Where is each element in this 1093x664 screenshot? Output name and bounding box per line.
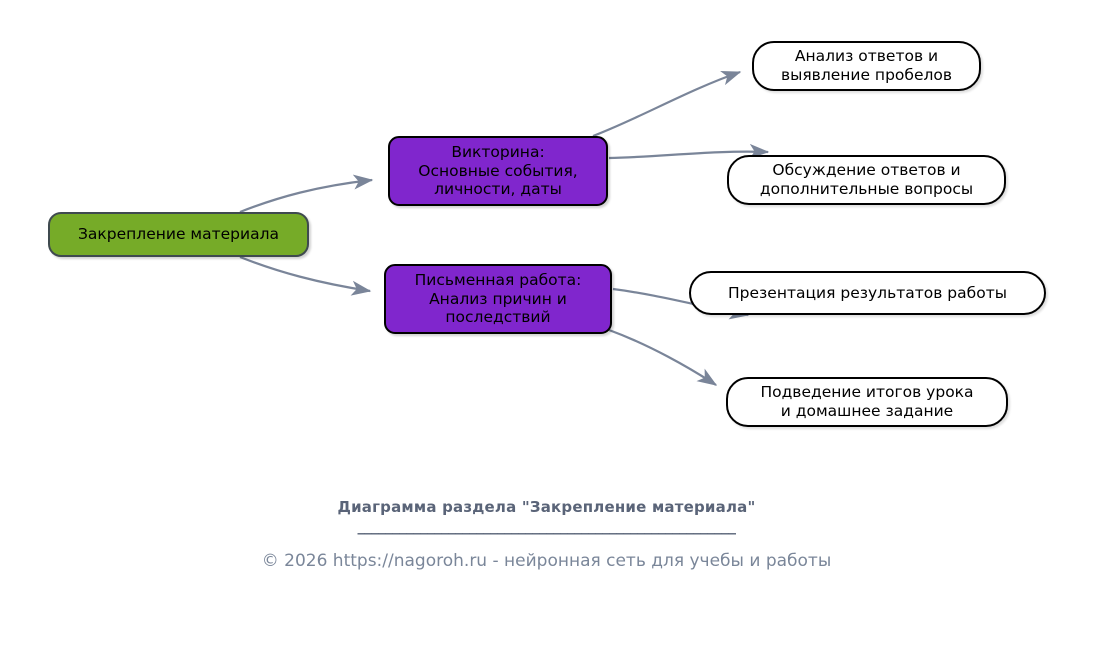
node-leaf-presentation[interactable]: Презентация результатов работы: [689, 271, 1046, 315]
edge-branch1-to-leaf1: [593, 72, 740, 136]
node-branch-written-work[interactable]: Письменная работа: Анализ причин и после…: [384, 264, 612, 334]
edge-root-to-branch2: [240, 257, 370, 291]
edge-branch2-to-leaf4: [609, 330, 716, 385]
diagram-caption: Диаграмма раздела "Закрепление материала…: [0, 498, 1093, 516]
footer-copyright: © 2026 https://nagoroh.ru - нейронная се…: [0, 551, 1093, 571]
node-leaf-answer-analysis[interactable]: Анализ ответов и выявление пробелов: [752, 41, 981, 91]
node-leaf-answer-discussion[interactable]: Обсуждение ответов и дополнительные вопр…: [727, 155, 1006, 205]
node-root[interactable]: Закрепление материала: [48, 212, 309, 257]
node-branch-quiz[interactable]: Викторина: Основные события, личности, д…: [388, 136, 608, 206]
footer-divider: ________________________________________…: [0, 517, 1093, 539]
node-leaf-lesson-summary[interactable]: Подведение итогов урока и домашнее задан…: [726, 377, 1008, 427]
edge-root-to-branch1: [240, 180, 372, 212]
footer: Диаграмма раздела "Закрепление материала…: [0, 498, 1093, 571]
